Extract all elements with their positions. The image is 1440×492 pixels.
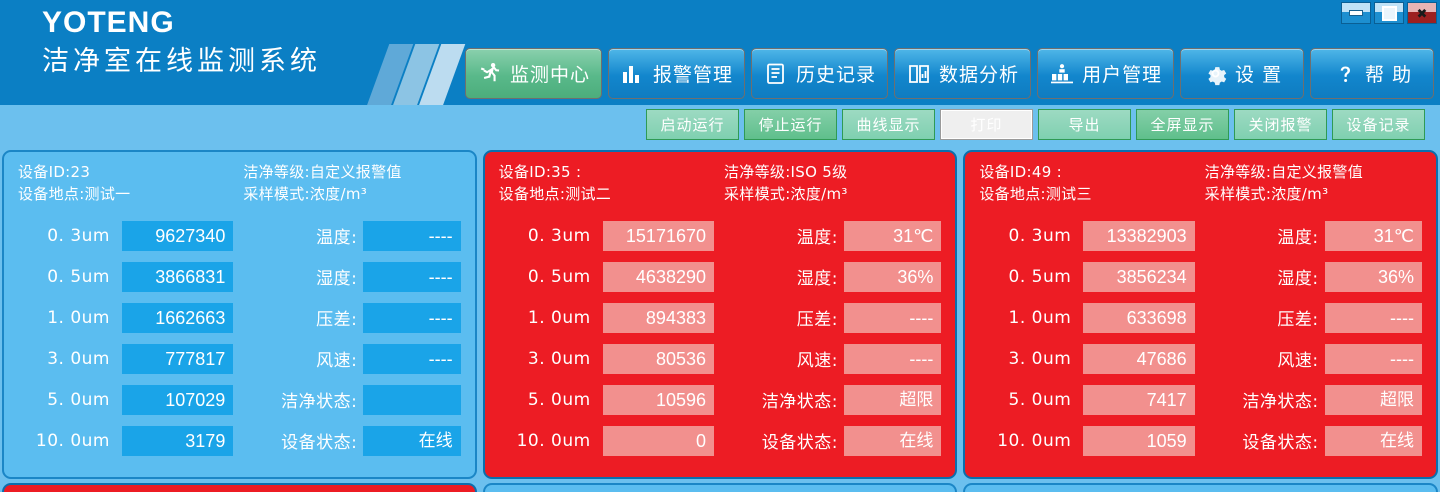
particle-row: 0. 3um13382903 (979, 215, 1194, 256)
clean-level: 洁净等级:ISO 5级 (724, 161, 941, 183)
nav-button-label: 帮 助 (1365, 60, 1412, 87)
nav-button-label: 数据分析 (939, 60, 1019, 87)
panel-body: 0. 3um151716700. 5um46382901. 0um8943833… (499, 215, 942, 461)
bar-chart-icon (620, 61, 646, 87)
particle-row: 3. 0um80536 (499, 338, 714, 379)
clean-level: 洁净等级:自定义报警值 (1205, 161, 1422, 183)
environment-row: 风速:---- (245, 338, 460, 379)
environment-readings: 温度:----湿度:----压差:----风速:----洁净状态:设备状态:在线 (239, 215, 460, 461)
particle-count-value: 633698 (1083, 303, 1194, 333)
particle-count-value: 3179 (122, 426, 233, 456)
nav-button-label: 监测中心 (510, 60, 590, 87)
particle-row: 3. 0um777817 (18, 338, 233, 379)
particle-size-label: 5. 0um (979, 390, 1083, 410)
particle-counts: 0. 3um133829030. 5um38562341. 0um6336983… (979, 215, 1200, 461)
environment-label: 湿度: (245, 264, 363, 289)
particle-size-label: 10. 0um (18, 431, 122, 451)
panel-body: 0. 3um133829030. 5um38562341. 0um6336983… (979, 215, 1422, 461)
environment-row: 温度:31℃ (726, 215, 941, 256)
nav-button-1[interactable]: 监测中心 (465, 48, 602, 99)
environment-value: ---- (363, 262, 460, 292)
environment-label: 压差: (726, 305, 844, 330)
environment-row: 风速:---- (726, 338, 941, 379)
nav-button-2[interactable]: 报警管理 (608, 48, 745, 99)
environment-label: 压差: (245, 305, 363, 330)
toolbar-button-2[interactable]: 停止运行 (744, 109, 837, 140)
environment-value: ---- (363, 344, 460, 374)
particle-size-label: 0. 5um (979, 267, 1083, 287)
device-panel-partial[interactable] (963, 483, 1438, 492)
sample-mode: 采样模式:浓度/m³ (243, 183, 460, 205)
particle-size-label: 3. 0um (499, 349, 603, 369)
panel-meta-left: 设备ID:49 :设备地点:测试三 (979, 161, 1196, 205)
toolbar-button-3[interactable]: 曲线显示 (842, 109, 935, 140)
environment-readings: 温度:31℃湿度:36%压差:----风速:----洁净状态:超限设备状态:在线 (1201, 215, 1422, 461)
device-id: 设备ID:35 : (499, 161, 716, 183)
environment-label: 洁净状态: (245, 387, 363, 412)
environment-label: 压差: (1207, 305, 1325, 330)
document-icon (763, 61, 789, 87)
close-icon: ✖ (1417, 8, 1428, 19)
panel-meta: 设备ID:35 :设备地点:测试二洁净等级:ISO 5级采样模式:浓度/m³ (499, 161, 942, 205)
environment-label: 设备状态: (726, 428, 844, 453)
environment-value: 在线 (844, 426, 941, 456)
particle-size-label: 10. 0um (979, 431, 1083, 451)
particle-row: 10. 0um0 (499, 420, 714, 461)
device-site: 设备地点:测试二 (499, 183, 716, 205)
panel-meta-right: 洁净等级:ISO 5级采样模式:浓度/m³ (716, 161, 941, 205)
sample-mode: 采样模式:浓度/m³ (724, 183, 941, 205)
environment-row: 湿度:36% (1207, 256, 1422, 297)
environment-label: 设备状态: (245, 428, 363, 453)
environment-row: 湿度:36% (726, 256, 941, 297)
particle-size-label: 0. 5um (18, 267, 122, 287)
environment-row: 湿度:---- (245, 256, 460, 297)
environment-label: 设备状态: (1207, 428, 1325, 453)
particle-row: 0. 5um4638290 (499, 256, 714, 297)
particle-row: 5. 0um107029 (18, 379, 233, 420)
environment-label: 温度: (245, 223, 363, 248)
environment-label: 温度: (1207, 223, 1325, 248)
toolbar-button-8[interactable]: 设备记录 (1332, 109, 1425, 140)
device-panel-grid-next-row (0, 483, 1440, 492)
environment-value: ---- (844, 303, 941, 333)
particle-count-value: 15171670 (603, 221, 714, 251)
particle-size-label: 10. 0um (499, 431, 603, 451)
particle-size-label: 0. 3um (979, 226, 1083, 246)
gear-icon (1202, 61, 1228, 87)
toolbar-button-5[interactable]: 导出 (1038, 109, 1131, 140)
particle-row: 0. 5um3856234 (979, 256, 1194, 297)
device-panel[interactable]: 设备ID:49 :设备地点:测试三洁净等级:自定义报警值采样模式:浓度/m³0.… (963, 150, 1438, 479)
particle-row: 5. 0um10596 (499, 379, 714, 420)
particle-size-label: 3. 0um (979, 349, 1083, 369)
panel-meta-right: 洁净等级:自定义报警值采样模式:浓度/m³ (235, 161, 460, 205)
window-controls: ✖ (1341, 2, 1437, 24)
device-panel-partial[interactable] (483, 483, 958, 492)
particle-counts: 0. 3um151716700. 5um46382901. 0um8943833… (499, 215, 720, 461)
particle-row: 10. 0um3179 (18, 420, 233, 461)
users-icon (1049, 61, 1075, 87)
main-navigation: 监测中心报警管理历史记录数据分析用户管理设 置帮 助 (465, 48, 1434, 99)
particle-count-value: 777817 (122, 344, 233, 374)
device-panel-grid: 设备ID:23设备地点:测试一洁净等级:自定义报警值采样模式:浓度/m³0. 3… (0, 150, 1440, 492)
device-site: 设备地点:测试三 (979, 183, 1196, 205)
panel-meta: 设备ID:23设备地点:测试一洁净等级:自定义报警值采样模式:浓度/m³ (18, 161, 461, 205)
environment-row: 洁净状态:超限 (1207, 379, 1422, 420)
application-window: YOTENG 洁净室在线监测系统 ✖ 监测中心报警管理历史记录数据分析用户管理设… (0, 0, 1440, 492)
device-site: 设备地点:测试一 (18, 183, 235, 205)
environment-row: 设备状态:在线 (245, 420, 460, 461)
environment-row: 洁净状态:超限 (726, 379, 941, 420)
environment-label: 湿度: (726, 264, 844, 289)
particle-size-label: 1. 0um (499, 308, 603, 328)
brand-name: YOTENG (42, 4, 321, 42)
book-chart-icon (906, 61, 932, 87)
particle-size-label: 0. 5um (499, 267, 603, 287)
environment-value: 超限 (844, 385, 941, 415)
particle-row: 10. 0um1059 (979, 420, 1194, 461)
particle-count-value: 3856234 (1083, 262, 1194, 292)
brand-subtitle: 洁净室在线监测系统 (42, 42, 321, 82)
particle-row: 1. 0um1662663 (18, 297, 233, 338)
environment-value: 31℃ (844, 221, 941, 251)
environment-value: 31℃ (1325, 221, 1422, 251)
environment-value: ---- (1325, 303, 1422, 333)
environment-label: 风速: (245, 346, 363, 371)
particle-row: 0. 3um9627340 (18, 215, 233, 256)
toolbar-strip: 启动运行停止运行曲线显示打印导出全屏显示关闭报警设备记录 (0, 105, 1440, 150)
device-id: 设备ID:49 : (979, 161, 1196, 183)
environment-value: ---- (844, 344, 941, 374)
environment-row: 压差:---- (726, 297, 941, 338)
particle-count-value: 13382903 (1083, 221, 1194, 251)
nav-button-label: 用户管理 (1082, 60, 1162, 87)
nav-button-label: 报警管理 (653, 60, 733, 87)
environment-label: 温度: (726, 223, 844, 248)
particle-row: 5. 0um7417 (979, 379, 1194, 420)
sample-mode: 采样模式:浓度/m³ (1205, 183, 1422, 205)
particle-row: 3. 0um47686 (979, 338, 1194, 379)
maximize-button[interactable] (1374, 2, 1404, 24)
nav-button-label: 历史记录 (796, 60, 876, 87)
environment-value (363, 385, 460, 415)
panel-meta-left: 设备ID:23设备地点:测试一 (18, 161, 235, 205)
environment-row: 设备状态:在线 (726, 420, 941, 461)
particle-size-label: 0. 3um (18, 226, 122, 246)
question-icon (1332, 61, 1358, 87)
environment-value: 超限 (1325, 385, 1422, 415)
maximize-icon (1382, 6, 1397, 21)
particle-row: 1. 0um633698 (979, 297, 1194, 338)
environment-row: 风速:---- (1207, 338, 1422, 379)
toolbar-button-7[interactable]: 关闭报警 (1234, 109, 1327, 140)
nav-button-4[interactable]: 数据分析 (894, 48, 1031, 99)
panel-meta-left: 设备ID:35 :设备地点:测试二 (499, 161, 716, 205)
toolbar-button-4[interactable]: 打印 (940, 109, 1033, 140)
particle-count-value: 894383 (603, 303, 714, 333)
environment-value: ---- (363, 221, 460, 251)
nav-button-7[interactable]: 帮 助 (1310, 48, 1434, 99)
clean-level: 洁净等级:自定义报警值 (243, 161, 460, 183)
device-panel[interactable]: 设备ID:35 :设备地点:测试二洁净等级:ISO 5级采样模式:浓度/m³0.… (483, 150, 958, 479)
environment-row: 温度:---- (245, 215, 460, 256)
panel-body: 0. 3um96273400. 5um38668311. 0um16626633… (18, 215, 461, 461)
particle-count-value: 80536 (603, 344, 714, 374)
minimize-icon (1349, 10, 1363, 16)
brand-block: YOTENG 洁净室在线监测系统 (42, 4, 321, 82)
environment-value: ---- (363, 303, 460, 333)
environment-value: ---- (1325, 344, 1422, 374)
particle-size-label: 5. 0um (499, 390, 603, 410)
particle-size-label: 5. 0um (18, 390, 122, 410)
device-panel[interactable]: 设备ID:23设备地点:测试一洁净等级:自定义报警值采样模式:浓度/m³0. 3… (2, 150, 477, 479)
app-header: YOTENG 洁净室在线监测系统 ✖ 监测中心报警管理历史记录数据分析用户管理设… (0, 0, 1440, 105)
particle-row: 1. 0um894383 (499, 297, 714, 338)
particle-size-label: 1. 0um (18, 308, 122, 328)
particle-count-value: 10596 (603, 385, 714, 415)
particle-count-value: 47686 (1083, 344, 1194, 374)
environment-label: 风速: (726, 346, 844, 371)
panel-meta-right: 洁净等级:自定义报警值采样模式:浓度/m³ (1197, 161, 1422, 205)
environment-value: 在线 (363, 426, 460, 456)
environment-label: 湿度: (1207, 264, 1325, 289)
environment-value: 36% (1325, 262, 1422, 292)
action-toolbar: 启动运行停止运行曲线显示打印导出全屏显示关闭报警设备记录 (646, 109, 1425, 140)
environment-readings: 温度:31℃湿度:36%压差:----风速:----洁净状态:超限设备状态:在线 (720, 215, 941, 461)
nav-button-label: 设 置 (1235, 60, 1282, 87)
device-id: 设备ID:23 (18, 161, 235, 183)
particle-counts: 0. 3um96273400. 5um38668311. 0um16626633… (18, 215, 239, 461)
device-panel-partial[interactable] (2, 483, 477, 492)
environment-value: 36% (844, 262, 941, 292)
environment-value: 在线 (1325, 426, 1422, 456)
environment-row: 温度:31℃ (1207, 215, 1422, 256)
particle-size-label: 0. 3um (499, 226, 603, 246)
environment-label: 风速: (1207, 346, 1325, 371)
particle-count-value: 1662663 (122, 303, 233, 333)
particle-size-label: 1. 0um (979, 308, 1083, 328)
environment-label: 洁净状态: (1207, 387, 1325, 412)
particle-count-value: 1059 (1083, 426, 1194, 456)
close-button[interactable]: ✖ (1407, 2, 1437, 24)
particle-count-value: 107029 (122, 385, 233, 415)
panel-meta: 设备ID:49 :设备地点:测试三洁净等级:自定义报警值采样模式:浓度/m³ (979, 161, 1422, 205)
toolbar-button-1[interactable]: 启动运行 (646, 109, 739, 140)
runner-icon (477, 61, 503, 87)
particle-count-value: 9627340 (122, 221, 233, 251)
particle-count-value: 0 (603, 426, 714, 456)
particle-row: 0. 5um3866831 (18, 256, 233, 297)
particle-size-label: 3. 0um (18, 349, 122, 369)
particle-count-value: 3866831 (122, 262, 233, 292)
environment-row: 压差:---- (245, 297, 460, 338)
nav-button-3[interactable]: 历史记录 (751, 48, 888, 99)
particle-row: 0. 3um15171670 (499, 215, 714, 256)
environment-row: 压差:---- (1207, 297, 1422, 338)
particle-count-value: 4638290 (603, 262, 714, 292)
toolbar-button-6[interactable]: 全屏显示 (1136, 109, 1229, 140)
nav-button-6[interactable]: 设 置 (1180, 48, 1304, 99)
nav-button-5[interactable]: 用户管理 (1037, 48, 1174, 99)
environment-row: 洁净状态: (245, 379, 460, 420)
minimize-button[interactable] (1341, 2, 1371, 24)
environment-label: 洁净状态: (726, 387, 844, 412)
environment-row: 设备状态:在线 (1207, 420, 1422, 461)
particle-count-value: 7417 (1083, 385, 1194, 415)
